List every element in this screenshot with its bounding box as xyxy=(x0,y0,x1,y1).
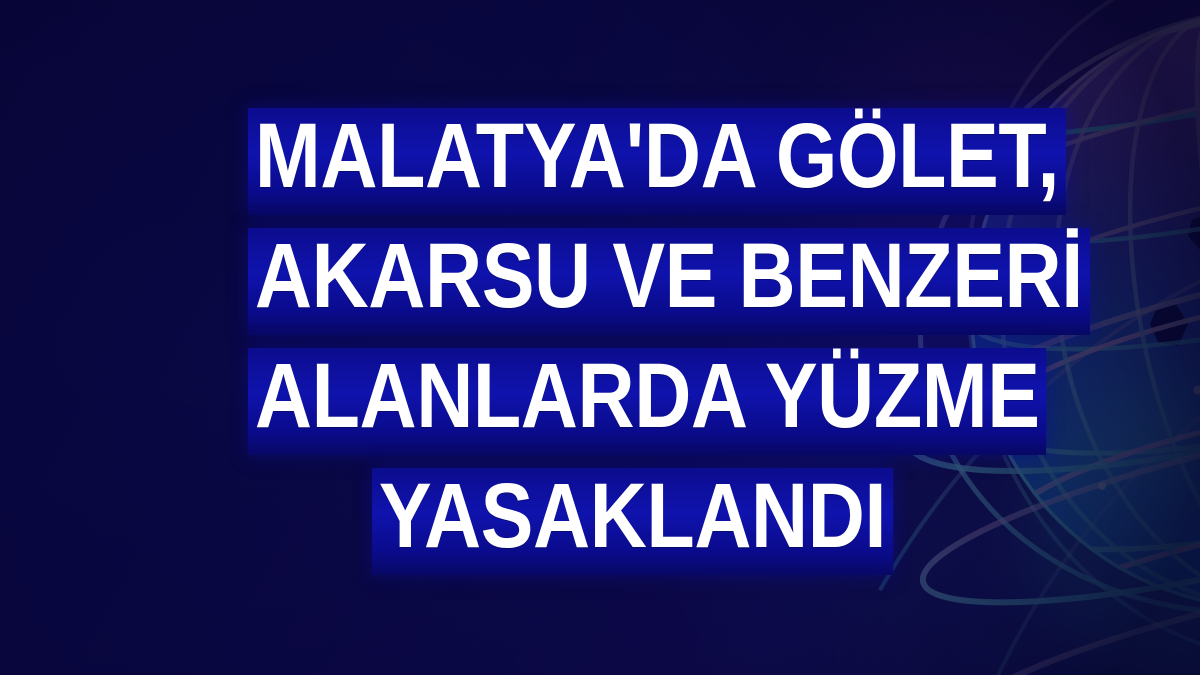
headline-line-1: MALATYA'DA GÖLET, xyxy=(248,108,1066,215)
headline-line-2: AKARSU VE BENZERİ xyxy=(248,228,1090,335)
news-headline-card: MALATYA'DA GÖLET, AKARSU VE BENZERİ ALAN… xyxy=(0,0,1200,675)
headline-line-3: ALANLARDA YÜZME xyxy=(248,348,1046,455)
headline-line-4: YASAKLANDI xyxy=(372,468,893,575)
headline-block: MALATYA'DA GÖLET, AKARSU VE BENZERİ ALAN… xyxy=(0,0,1200,675)
